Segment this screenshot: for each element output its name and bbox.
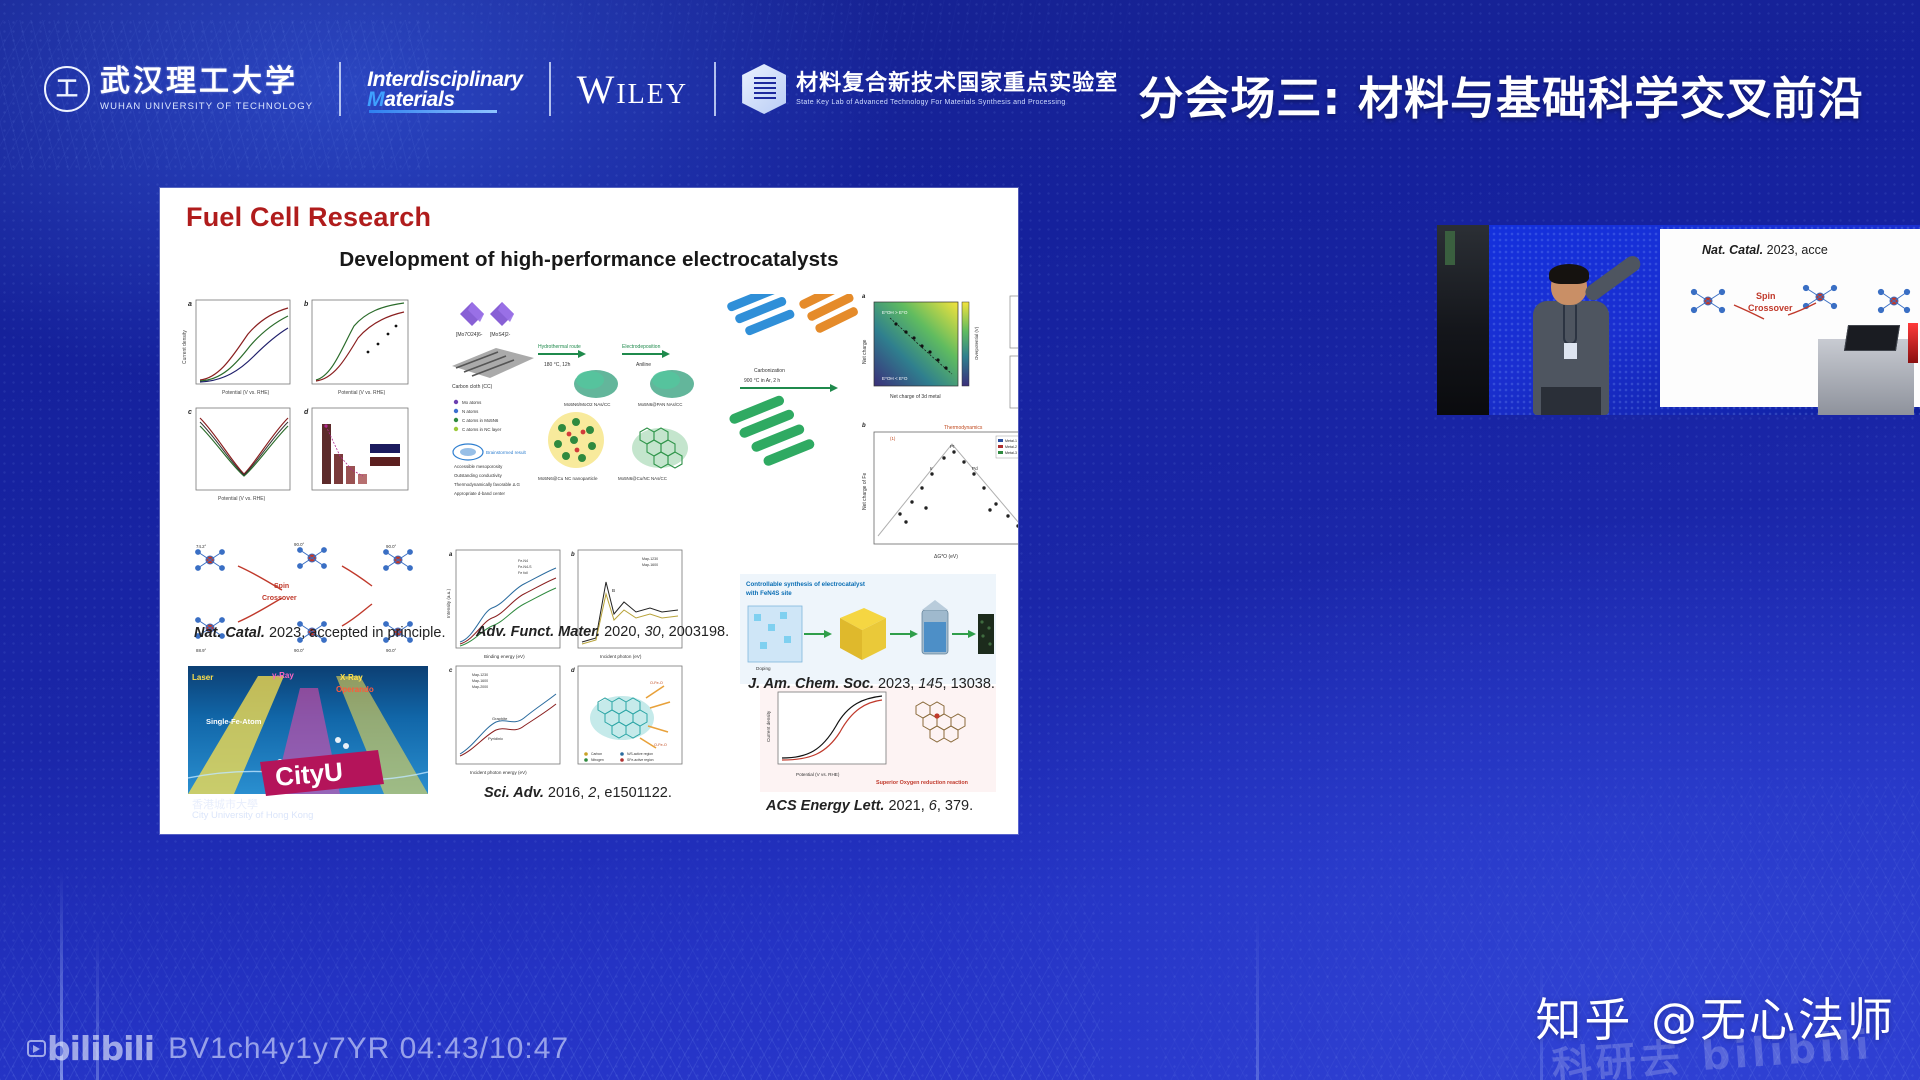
caption-sci-adv: Sci. Adv. 2016, 2, e1501122. (484, 785, 672, 801)
im-underline-rule (369, 110, 497, 113)
svg-text:Fe-N4-S: Fe-N4-S (518, 565, 532, 569)
svg-text:Incident photon energy (eV): Incident photon energy (eV) (470, 770, 527, 775)
svg-text:c: c (449, 668, 453, 674)
controllable-synthesis-svg: Controllable synthesis of electrocatalys… (740, 574, 996, 684)
svg-text:SFe-active region: SFe-active region (627, 758, 654, 762)
svg-text:Potential (V vs. RHE): Potential (V vs. RHE) (796, 772, 840, 777)
svg-text:c: c (188, 409, 192, 416)
background-light-beam (1256, 910, 1259, 1080)
svg-text:b: b (304, 301, 309, 308)
svg-text:Incident photon (eV): Incident photon (eV) (600, 654, 642, 659)
svg-text:Brainstormed result: Brainstormed result (486, 450, 527, 455)
svg-text:Graphite: Graphite (492, 716, 508, 721)
svg-text:Mo5N6/MoO2 NAs/CC: Mo5N6/MoO2 NAs/CC (564, 402, 611, 407)
svg-text:Map-1600: Map-1600 (472, 679, 488, 683)
svg-text:900 °C in Ar, 2 h: 900 °C in Ar, 2 h (744, 378, 780, 384)
svg-text:Current density: Current density (182, 330, 188, 364)
svg-text:N/S-active region: N/S-active region (627, 752, 653, 756)
stage-red-light (1908, 323, 1918, 363)
spectra-panels-svg: a Fe-N4Fe-N4-SFe foil Binding energy (eV… (446, 542, 692, 776)
svg-text:Current density: Current density (766, 710, 771, 742)
svg-text:74.2°: 74.2° (196, 544, 207, 549)
svg-text:d: d (304, 409, 309, 416)
svg-text:Metal-3: Metal-3 (1005, 451, 1017, 455)
cityu-logo-overlay: CityU (256, 748, 388, 800)
svg-text:Map-1230: Map-1230 (472, 673, 488, 677)
figure-nanowire-bundles: Carbonization 900 °C in Ar, 2 h (720, 294, 860, 509)
figure-volcano-plot: b Thermodynamics Pt Pd Ir (1) (2) (860, 418, 1018, 566)
svg-text:Mo5N6@Cu/NC NAs/CC: Mo5N6@Cu/NC NAs/CC (618, 476, 667, 481)
svg-text:Potential (V vs. RHE): Potential (V vs. RHE) (218, 496, 266, 502)
skl-name-en: State Key Lab of Advanced Technology For… (796, 99, 1118, 106)
svg-text:b: b (571, 552, 575, 558)
logo-interdisciplinary-materials: Interdisciplinary Materials (367, 69, 522, 110)
nanowire-bundles-svg: Carbonization 900 °C in Ar, 2 h (720, 294, 860, 509)
svg-text:Aniline: Aniline (636, 362, 651, 368)
svg-text:Map-2000: Map-2000 (472, 685, 488, 689)
svg-text:88.9°: 88.9° (196, 648, 207, 653)
logo-divider (339, 62, 341, 116)
svg-text:Appropriate d-band center: Appropriate d-band center (454, 491, 506, 496)
svg-text:Fe-N4: Fe-N4 (518, 559, 528, 563)
svg-text:180 °C, 12h: 180 °C, 12h (544, 362, 571, 368)
skl-name-cn: 材料复合新技术国家重点实验室 (796, 72, 1118, 96)
caption-acs-energy-lett: ACS Energy Lett. 2021, 6, 379. (766, 798, 973, 814)
svg-text:Single-Fe-Atom: Single-Fe-Atom (206, 717, 262, 726)
figure-synthesis-schematic: [Mo7O24]6- [MoS4]2- Carbon cloth (CC) Hy… (446, 292, 712, 512)
svg-text:Outstanding conductivity: Outstanding conductivity (454, 473, 503, 478)
svg-text:E*OH > E*O: E*OH > E*O (882, 310, 908, 315)
sponsor-logo-row: 工 武汉理工大学 WUHAN UNIVERSITY OF TECHNOLOGY … (44, 62, 1118, 116)
state-key-lab-badge-icon (742, 64, 786, 114)
svg-text:90.0°: 90.0° (294, 542, 305, 547)
svg-text:Controllable synthesis of elec: Controllable synthesis of electrocatalys… (746, 581, 865, 588)
svg-text:Superior Oxygen reduction reac: Superior Oxygen reduction reaction (876, 780, 968, 786)
svg-text:Metal-1: Metal-1 (1005, 439, 1017, 443)
figure-adsorption-insets: O-down H-down (1008, 292, 1018, 414)
figure-spectra-panels: a Fe-N4Fe-N4-SFe foil Binding energy (eV… (446, 542, 692, 776)
svg-text:(1): (1) (890, 436, 896, 441)
logo-state-key-laboratory: 材料复合新技术国家重点实验室 State Key Lab of Advanced… (742, 64, 1118, 114)
session-title: 分会场三: 材料与基础科学交叉前沿 (1138, 62, 1864, 127)
video-id-and-timecode: BV1ch4y1y7YR 04:43/10:47 (168, 1032, 569, 1066)
svg-text:Mo atoms: Mo atoms (462, 400, 482, 405)
svg-text:Map-1600: Map-1600 (642, 563, 658, 567)
figure-orr-polarization: Potential (V vs. RHE) Current density Su… (760, 686, 996, 792)
svg-text:B: B (612, 588, 615, 593)
svg-text:a: a (862, 294, 866, 300)
wut-name-en: WUHAN UNIVERSITY OF TECHNOLOGY (100, 101, 313, 112)
svg-text:Pt: Pt (950, 444, 955, 449)
svg-text:Carbon: Carbon (591, 752, 602, 756)
wiley-wordmark: Wiley (577, 66, 689, 113)
im-line-2-rest: aterials (384, 88, 454, 111)
svg-text:Pyridinic: Pyridinic (488, 736, 503, 741)
svg-text:Crossover: Crossover (262, 595, 297, 602)
figure-controllable-synthesis: Controllable synthesis of electrocatalys… (740, 574, 996, 684)
svg-text:Net charge of 3d metal: Net charge of 3d metal (890, 394, 941, 400)
svg-text:Thermodynamically favorable Δ: Thermodynamically favorable Δ G (454, 482, 520, 487)
svg-text:Laser: Laser (192, 673, 213, 682)
stage-left-dark-area (1437, 225, 1489, 415)
cityu-caption-en: City University of Hong Kong (192, 810, 313, 821)
synthesis-schematic-svg: [Mo7O24]6- [MoS4]2- Carbon cloth (CC) Hy… (446, 292, 712, 512)
bilibili-tv-icon (27, 1040, 46, 1057)
svg-text:Crossover: Crossover (1748, 303, 1793, 313)
svg-text:a: a (188, 301, 192, 308)
cityu-logo-svg: CityU (256, 748, 388, 800)
svg-text:Map-1230: Map-1230 (642, 557, 658, 561)
svg-text:Potential (V vs. RHE): Potential (V vs. RHE) (222, 390, 270, 396)
polarization-panels-svg: a Potential (V vs. RHE) Current density … (182, 294, 422, 509)
svg-text:Pd: Pd (972, 466, 978, 471)
svg-text:Mo5N6@Cu NC nanoparticle: Mo5N6@Cu NC nanoparticle (538, 476, 598, 481)
svg-text:Nitrogen: Nitrogen (591, 758, 604, 762)
svg-text:Binding energy (eV): Binding energy (eV) (484, 654, 525, 659)
bilibili-playback-footer: bilibili BV1ch4y1y7YR 04:43/10:47 (26, 1029, 569, 1068)
laptop-on-podium (1844, 325, 1900, 351)
timecode: 04:43/10:47 (400, 1032, 569, 1065)
svg-text:Doping: Doping (756, 666, 771, 671)
adsorption-insets-svg: O-down H-down (1008, 292, 1018, 414)
svg-text:90.0°: 90.0° (386, 544, 397, 549)
svg-text:E*OH < E*O: E*OH < E*O (882, 376, 908, 381)
svg-text:N atoms: N atoms (462, 409, 479, 414)
logo-divider (549, 62, 551, 116)
svg-text:90.0°: 90.0° (386, 648, 397, 653)
svg-text:Potential (V vs. RHE): Potential (V vs. RHE) (338, 390, 386, 396)
logo-divider (714, 62, 716, 116)
im-line-1: Interdisciplinary (367, 69, 522, 90)
seal-glyph: 工 (56, 78, 78, 100)
conference-header-bar: 工 武汉理工大学 WUHAN UNIVERSITY OF TECHNOLOGY … (0, 0, 1920, 178)
slide-title: Fuel Cell Research (186, 202, 431, 233)
svg-text:CityU: CityU (274, 756, 344, 792)
bilibili-wordmark: bilibili (47, 1029, 154, 1068)
svg-text:Net charge: Net charge (862, 339, 868, 364)
im-line-2-cap: M (367, 88, 384, 111)
svg-text:90.0°: 90.0° (294, 648, 305, 653)
activity-heatmap-svg: a (860, 290, 1008, 414)
bilibili-logo: bilibili (26, 1029, 154, 1068)
svg-text:Mo5N6@PAN NAs/CC: Mo5N6@PAN NAs/CC (638, 402, 682, 407)
video-id: BV1ch4y1y7YR (168, 1032, 390, 1065)
svg-text:O-Fe-O: O-Fe-O (654, 743, 667, 747)
slide-subtitle: Development of high-performance electroc… (160, 248, 1018, 272)
svg-text:Spin: Spin (274, 583, 289, 590)
caption-adv-funct-mater: Adv. Funct. Mater. 2020, 30, 2003198. (476, 624, 729, 640)
svg-text:Electrodeposition: Electrodeposition (622, 344, 661, 350)
projected-slide-caption: Nat. Catal. 2023, acce (1702, 243, 1828, 257)
svg-text:Carbon cloth (CC): Carbon cloth (CC) (452, 384, 493, 390)
svg-text:Net charge of Fe: Net charge of Fe (862, 473, 868, 510)
svg-text:Fe foil: Fe foil (518, 571, 528, 575)
caption-jacs: J. Am. Chem. Soc. 2023, 145, 13038. (748, 676, 995, 692)
svg-text:[MoS4]2-: [MoS4]2- (490, 332, 511, 338)
speaker-video-inset[interactable]: Nat. Catal. 2023, acce (1437, 225, 1920, 415)
volcano-plot-svg: b Thermodynamics Pt Pd Ir (1) (2) (860, 418, 1018, 566)
logo-wuhan-university-of-technology: 工 武汉理工大学 WUHAN UNIVERSITY OF TECHNOLOGY (44, 66, 313, 112)
presentation-slide: Fuel Cell Research Development of high-p… (160, 188, 1018, 834)
figure-polarization-panels: a Potential (V vs. RHE) Current density … (182, 294, 422, 509)
zhihu-watermark: 知乎 @无心法师 (1535, 984, 1896, 1050)
svg-text:X-Ray: X-Ray (340, 673, 363, 682)
svg-text:C atoms in NC layer: C atoms in NC layer (462, 427, 502, 432)
svg-text:Metal-2: Metal-2 (1005, 445, 1017, 449)
svg-text:Accessible mesoporosity: Accessible mesoporosity (454, 464, 503, 469)
svg-text:Spin: Spin (1756, 291, 1776, 301)
svg-text:C atoms in Mo5N6: C atoms in Mo5N6 (462, 418, 499, 423)
caption-nat-catal: Nat. Catal. 2023, accepted in principle. (194, 625, 446, 641)
figure-activity-heatmap: a (860, 290, 1008, 414)
svg-text:γ-Ray: γ-Ray (272, 671, 294, 680)
svg-text:ΔG*O (eV): ΔG*O (eV) (934, 554, 958, 560)
svg-text:d: d (571, 668, 575, 674)
orr-polarization-svg: Potential (V vs. RHE) Current density Su… (760, 686, 996, 792)
speaker-figure (1515, 267, 1633, 415)
svg-text:Intensity (a.u.): Intensity (a.u.) (446, 588, 451, 618)
svg-text:Ir: Ir (930, 466, 933, 471)
video-player-stage: 工 武汉理工大学 WUHAN UNIVERSITY OF TECHNOLOGY … (0, 0, 1920, 1080)
svg-text:O-Fe-O: O-Fe-O (650, 681, 663, 685)
university-seal-icon: 工 (44, 66, 90, 112)
logo-wiley: Wiley (577, 66, 689, 113)
svg-text:Carbonization: Carbonization (754, 368, 785, 374)
svg-text:b: b (862, 423, 866, 429)
svg-text:a: a (449, 552, 453, 558)
svg-text:Overpotential (V): Overpotential (V) (974, 326, 979, 360)
svg-text:Operando: Operando (336, 685, 374, 694)
svg-text:Thermodynamics: Thermodynamics (944, 425, 983, 431)
svg-text:Hydrothermal route: Hydrothermal route (538, 344, 581, 350)
svg-text:[Mo7O24]6-: [Mo7O24]6- (456, 332, 483, 338)
svg-text:with FeN4S site: with FeN4S site (745, 590, 792, 597)
wut-name-cn: 武汉理工大学 (100, 66, 313, 98)
